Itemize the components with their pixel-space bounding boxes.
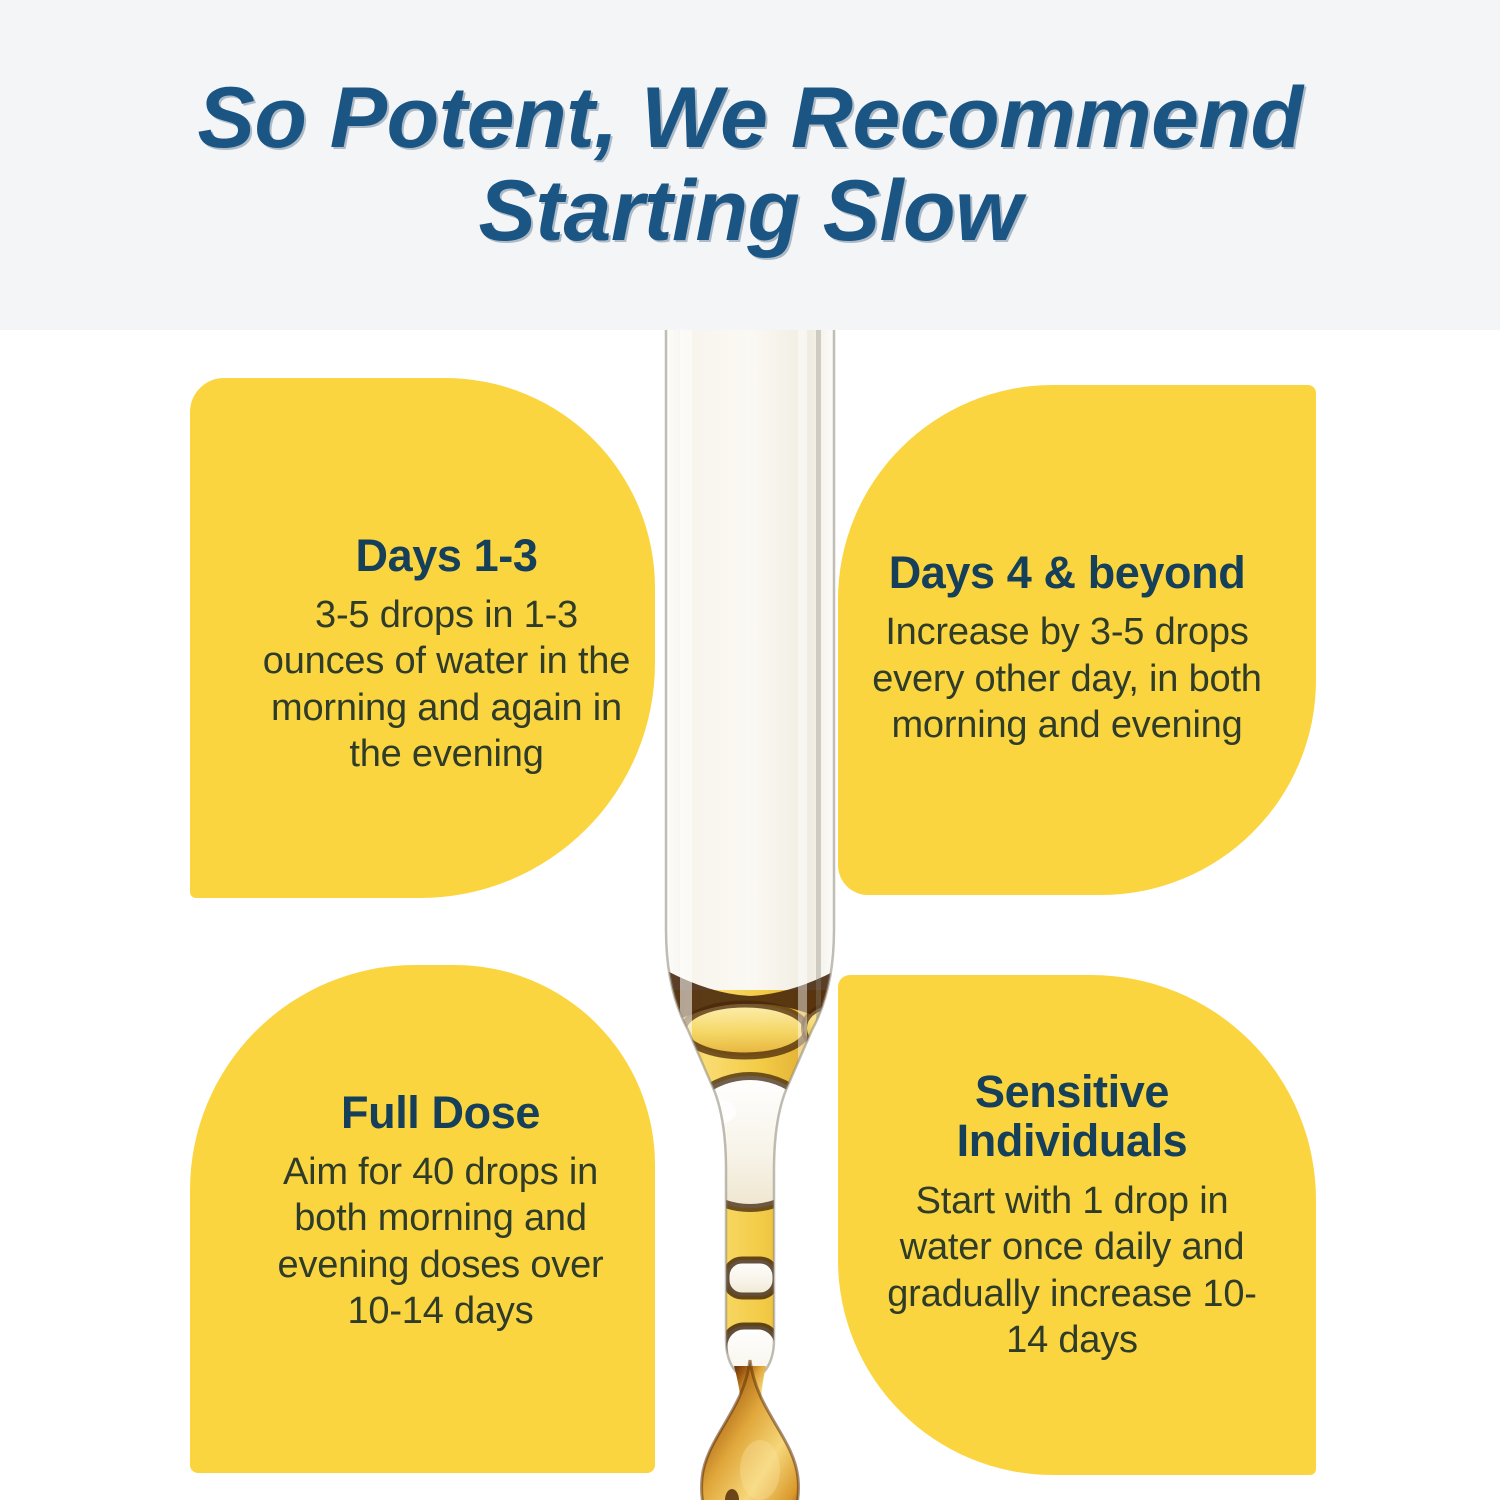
card-text-wrap: Full Dose Aim for 40 drops in both morni… <box>252 1088 629 1335</box>
card-sensitive-individuals: Sensitive Individuals Start with 1 drop … <box>838 975 1316 1475</box>
card-body-full-dose: Aim for 40 drops in both morning and eve… <box>252 1149 629 1334</box>
card-days-1-3: Days 1-3 3-5 drops in 1-3 ounces of wate… <box>190 378 655 898</box>
card-body-days-4-beyond: Increase by 3-5 drops every other day, i… <box>872 609 1262 748</box>
card-grid: Days 1-3 3-5 drops in 1-3 ounces of wate… <box>0 330 1500 1500</box>
card-text-wrap: Sensitive Individuals Start with 1 drop … <box>878 1067 1266 1363</box>
card-title-days-1-3: Days 1-3 <box>260 531 633 581</box>
card-title-sensitive-individuals: Sensitive Individuals <box>878 1067 1266 1166</box>
card-title-days-4-beyond: Days 4 & beyond <box>872 548 1262 598</box>
card-full-dose: Full Dose Aim for 40 drops in both morni… <box>190 965 655 1473</box>
card-days-4-beyond: Days 4 & beyond Increase by 3-5 drops ev… <box>838 385 1316 895</box>
page-title: So Potent, We Recommend Starting Slow <box>125 72 1375 258</box>
card-text-wrap: Days 4 & beyond Increase by 3-5 drops ev… <box>872 548 1262 749</box>
infographic-root: So Potent, We Recommend Starting Slow Da… <box>0 0 1500 1500</box>
card-title-full-dose: Full Dose <box>252 1088 629 1138</box>
card-body-days-1-3: 3-5 drops in 1-3 ounces of water in the … <box>260 592 633 777</box>
card-body-sensitive-individuals: Start with 1 drop in water once daily an… <box>878 1178 1266 1363</box>
card-text-wrap: Days 1-3 3-5 drops in 1-3 ounces of wate… <box>260 531 633 778</box>
header-band: So Potent, We Recommend Starting Slow <box>0 0 1500 330</box>
